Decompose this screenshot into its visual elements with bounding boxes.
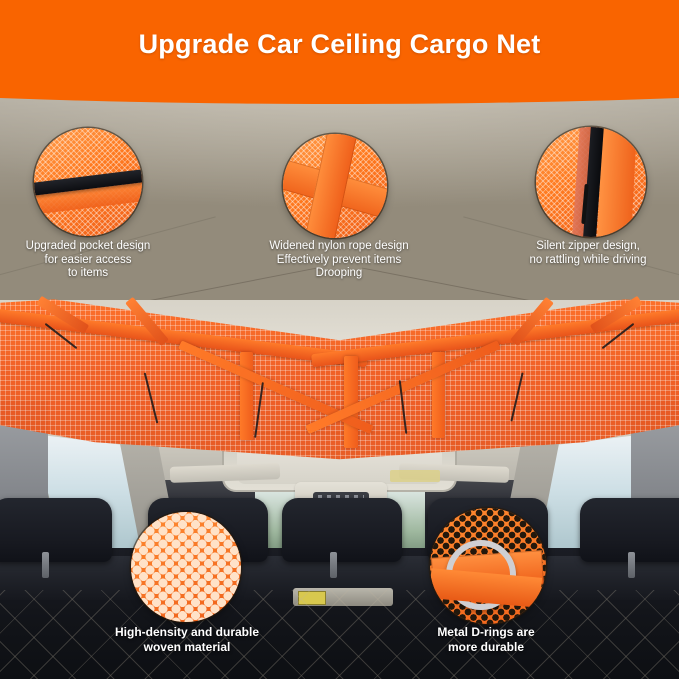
- page-title: Upgrade Car Ceiling Cargo Net: [0, 29, 679, 60]
- feature-label-line: for easier access: [4, 254, 172, 268]
- feature-label-rope: Widened nylon rope design Effectively pr…: [246, 240, 432, 281]
- feature-label-line: to items: [4, 267, 172, 281]
- zipper-pocket-icon: [34, 128, 142, 236]
- feature-label-line: more durable: [398, 640, 574, 655]
- feature-label-line: no rattling while driving: [500, 254, 676, 268]
- feature-label-line: Drooping: [246, 267, 432, 281]
- headrest: [282, 498, 402, 562]
- feature-label-line: Effectively prevent items: [246, 254, 432, 268]
- feature-label-pocket: Upgraded pocket design for easier access…: [4, 240, 172, 281]
- product-infographic: Upgrade Car Ceiling Cargo Net Upgraded p…: [0, 0, 679, 679]
- feature-label-line: woven material: [92, 640, 282, 655]
- mesh-weave-icon: [131, 512, 241, 622]
- visor-warning-label: [390, 470, 440, 482]
- feature-label-dring: Metal D-rings are more durable: [398, 625, 574, 655]
- vertical-zipper-icon: [536, 127, 646, 237]
- headrest-post: [330, 552, 337, 578]
- crossed-straps-icon: [283, 134, 387, 238]
- feature-label-line: Widened nylon rope design: [246, 240, 432, 254]
- headrest-post: [628, 552, 635, 578]
- hex-weave-texture: [131, 512, 241, 622]
- metal-d-ring-icon: [430, 508, 546, 624]
- net-vertical-strap: [240, 352, 253, 440]
- headrest-post: [42, 552, 49, 578]
- feature-label-line: Silent zipper design,: [500, 240, 676, 254]
- feature-label-line: Upgraded pocket design: [4, 240, 172, 254]
- feature-label-weave: High-density and durable woven material: [92, 625, 282, 655]
- headrest: [0, 498, 112, 562]
- feature-label-line: Metal D-rings are: [398, 625, 574, 640]
- feature-label-line: High-density and durable: [92, 625, 282, 640]
- feature-label-zipper: Silent zipper design, no rattling while …: [500, 240, 676, 267]
